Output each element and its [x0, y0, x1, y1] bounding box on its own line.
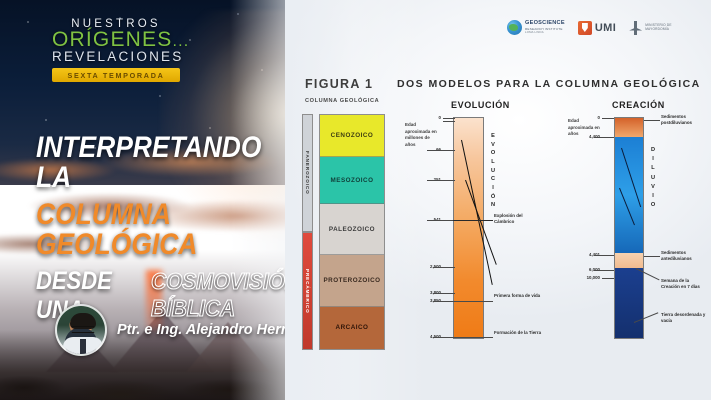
figure-subtitle: COLUMNA GEOLÓGICA: [305, 98, 379, 104]
evolucion-vertical-word: EVOLUCIÓN: [489, 132, 497, 210]
figure-label: FIGURA 1: [305, 77, 373, 91]
brand-line-revelaciones: REVELACIONES: [52, 49, 180, 64]
geo-band-mesozoico: MESOZOICO: [320, 157, 384, 204]
creacion-tick-leader: [602, 118, 614, 119]
geo-band-proterozoico: PROTEROZOICO: [320, 255, 384, 306]
evolucion-tick: [443, 118, 455, 119]
creacion-tick-leader: [594, 270, 614, 271]
eon-fanerozoico: FANEROZOICO: [302, 114, 313, 232]
creacion-tick-label-10000: 10,000: [572, 275, 600, 280]
geologic-column: CENOZOICO MESOZOICO PALEOZOICO PROTEROZO…: [319, 114, 385, 350]
avatar: [55, 304, 107, 356]
ministry-emblem-icon: [629, 21, 642, 35]
creacion-anno-leader: [644, 256, 660, 257]
evolucion-annotation-primera-vida: Primera forma de vida: [494, 293, 542, 299]
evolucion-anno-leader: [433, 301, 493, 302]
chart-evolucion: EVOLUCIÓN Edad aproximada en millones de…: [403, 100, 543, 360]
globe-icon: [507, 20, 522, 35]
creacion-segment-diluvio: [615, 137, 643, 254]
eon-fanerozoico-label: FANEROZOICO: [305, 151, 310, 195]
evolucion-anno-leader: [453, 220, 493, 221]
brand-origenes-text: ORÍGENES: [52, 28, 172, 51]
creacion-bar: [614, 117, 644, 339]
sponsor-logos: GEOSCIENCE RESEARCH INSTITUTE LOMA LINDA…: [507, 20, 672, 35]
creacion-annotation-antediluvianos: Sedimentos antediluvianos: [661, 250, 709, 263]
evolucion-tick-leader: [433, 293, 455, 294]
title-line-2: COLUMNA GEOLÓGICA: [36, 200, 300, 260]
eon-precambrico: PRECÁMBRICO: [302, 232, 313, 350]
avatar-tie: [80, 339, 86, 354]
evolucion-annotation-cambrico: Explosión del Cámbrico: [494, 213, 542, 226]
logo-umi: UMI: [578, 21, 616, 35]
evolucion-annotation-formacion-tierra: Formación de la Tierra: [494, 330, 542, 336]
ministerio-line-2: MAYORDOMÍA: [645, 28, 672, 31]
creacion-tick-leader: [602, 278, 614, 279]
evolucion-tick-leader: [427, 180, 455, 181]
title-line-1: INTERPRETANDO LA: [36, 133, 300, 193]
creacion-segment-postdiluviano: [615, 118, 643, 137]
evolucion-tick-label-0: 0: [415, 115, 441, 120]
creacion-vertical-word: DILUVIO: [649, 146, 657, 211]
slide-stage: NUESTROS ORÍGENES... REVELACIONES SEXTA …: [0, 0, 711, 400]
evolucion-anno-leader: [433, 337, 493, 338]
evolucion-tick-leader: [427, 150, 455, 151]
creacion-annotation-semana-creacion: Semana de la Creación en 7 días: [661, 278, 709, 291]
geo-band-cenozoico: CENOZOICO: [320, 115, 384, 157]
eon-precambrico-label: PRECÁMBRICO: [305, 269, 310, 314]
evolucion-tick: [443, 121, 455, 122]
evolucion-tick-leader: [427, 220, 455, 221]
evolucion-tick-leader: [433, 267, 455, 268]
logo-geoscience: GEOSCIENCE RESEARCH INSTITUTE LOMA LINDA: [507, 20, 565, 35]
creacion-title: CREACIÓN: [612, 100, 665, 110]
geo-band-paleozoico: PALEOZOICO: [320, 204, 384, 255]
presentation-slide: GEOSCIENCE RESEARCH INSTITUTE LOMA LINDA…: [285, 0, 711, 400]
creacion-annotation-tierra-desordenada: Tierra desordenada y vacía: [661, 312, 709, 325]
creacion-tick-leader: [594, 137, 614, 138]
geo-band-arcaico: ARCAICO: [320, 307, 384, 349]
umi-wordmark: UMI: [595, 22, 616, 34]
season-badge: SEXTA TEMPORADA: [52, 68, 180, 82]
glasses-icon: [71, 326, 95, 333]
creacion-annotation-postdiluvianos: Sedimentos postdiluvianos: [661, 114, 709, 127]
umi-shield-icon: [578, 21, 592, 35]
creacion-segment-tierra-vacia: [615, 268, 643, 338]
program-logo: NUESTROS ORÍGENES... REVELACIONES SEXTA …: [52, 18, 180, 82]
evolucion-axis-caption: Edad aproximada en millones de años: [405, 122, 441, 148]
evolucion-title: EVOLUCIÓN: [451, 100, 510, 110]
creacion-anno-leader: [644, 120, 660, 121]
geoscience-line-1: GEOSCIENCE: [525, 21, 565, 27]
logo-ministerio: MINISTERIO DE MAYORDOMÍA: [629, 21, 672, 35]
creacion-tick-leader: [594, 255, 614, 256]
creacion-segment-antediluviano: [615, 253, 643, 267]
brand-origenes-dots: ...: [172, 33, 189, 50]
creacion-tick-label-0: 0: [574, 115, 600, 120]
section-title: DOS MODELOS PARA LA COLUMNA GEOLÓGICA: [397, 78, 701, 90]
geoscience-line-3: LOMA LINDA: [525, 31, 565, 34]
chart-creacion: CREACIÓN Edad aproximada en años DILUVIO…: [568, 100, 711, 360]
